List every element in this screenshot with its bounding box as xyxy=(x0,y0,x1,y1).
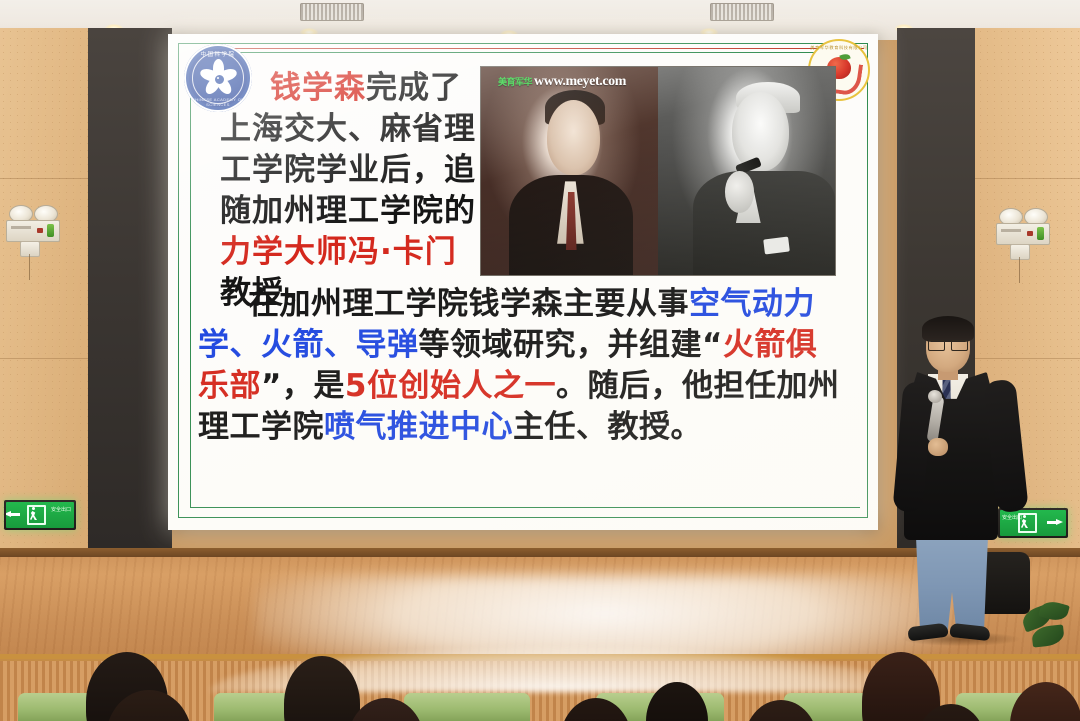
qian-xuesen-photo xyxy=(481,67,658,275)
p2-run-8: 主任、教授。 xyxy=(513,409,702,445)
arrow-right-icon xyxy=(1047,519,1063,526)
hand xyxy=(928,438,948,456)
audience-head xyxy=(1010,682,1080,721)
exit-sign-left: 安全出口 xyxy=(4,500,76,530)
arrow-left-icon xyxy=(10,511,26,518)
emergency-light-right xyxy=(996,208,1050,254)
seat-back xyxy=(404,693,530,721)
emergency-light-left xyxy=(6,205,60,251)
audience-head xyxy=(284,656,360,721)
ceiling-vent xyxy=(300,3,364,21)
watermark-cn: 美育军华 xyxy=(498,75,532,88)
left-wall xyxy=(0,28,92,628)
projection-screen: 中国科学院 CHINESE ACADEMY OF SCIENCES 美育军华教育… xyxy=(168,34,878,530)
running-man-icon xyxy=(1021,515,1029,528)
trousers xyxy=(914,525,990,633)
audience-head xyxy=(646,682,708,721)
audience xyxy=(0,638,1080,721)
p2-run-7: 喷气推进中心 xyxy=(324,409,513,445)
running-man-icon xyxy=(30,507,38,520)
slide-border-green-top xyxy=(226,52,864,53)
slide-paragraph-1: 钱学森完成了上海交大、麻省理工学院学业后，追随加州理工学院的力学大师冯·卡门教授… xyxy=(220,68,478,314)
p2-run-0: 在加州理工学院钱学森主要从事 xyxy=(248,286,689,322)
site-watermark: 美育军华 www.meyet.com xyxy=(498,74,626,90)
audience-head xyxy=(862,652,940,721)
apple-emblem-arc-text: 美育军华教育科技有限公司 xyxy=(810,45,868,51)
slide-paragraph-2: 在加州理工学院钱学森主要从事空气动力学、火箭、导弹等领域研究，并组建“火箭俱乐部… xyxy=(198,284,846,448)
watermark-url: www.meyet.com xyxy=(534,74,626,90)
hair xyxy=(922,316,974,342)
slide-border-green-bottom xyxy=(190,507,860,508)
p2-run-5: 5位创始人之一 xyxy=(345,368,556,404)
p2-run-4: ”，是 xyxy=(261,368,345,404)
cas-emblem-cn: 中国科学院 xyxy=(184,50,252,58)
lecture-hall-scene: 安全出口 安全出口 中国科学院 xyxy=(0,0,1080,721)
wall-texture xyxy=(0,28,92,628)
presenter xyxy=(900,320,1020,650)
presentation-slide: 中国科学院 CHINESE ACADEMY OF SCIENCES 美育军华教育… xyxy=(168,34,878,530)
slide-border-red xyxy=(226,48,864,49)
portrait-photo-pair xyxy=(480,66,836,276)
p1-run-2: 力学大师冯·卡门 xyxy=(220,234,457,270)
slide-border-green-left xyxy=(190,58,191,508)
p1-run-0: 钱学森 xyxy=(270,70,366,106)
exit-sign-label: 安全出口 xyxy=(51,508,71,514)
glasses-icon xyxy=(928,340,968,350)
p2-run-2: 等领域研究，并组建“ xyxy=(419,327,723,363)
ceiling-vent xyxy=(710,3,774,21)
von-karman-photo xyxy=(658,67,835,275)
left-dark-panel xyxy=(88,28,172,548)
